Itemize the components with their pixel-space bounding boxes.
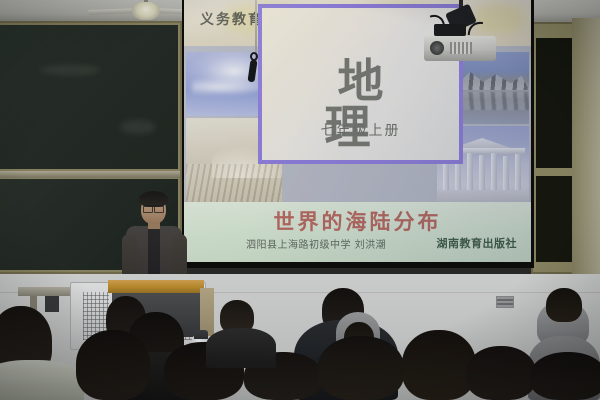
chalk-tray: [0, 171, 180, 178]
thermos-cap: [194, 330, 208, 339]
slide-body: 地 理 七年级上册: [184, 46, 531, 210]
publisher-name: 湖南教育出版社: [437, 235, 518, 251]
temple-column: [515, 154, 521, 192]
audience-glasses-icon: [300, 304, 316, 309]
audience-shoulders: [0, 360, 84, 400]
slide-bottom-banner: 世界的海陆分布 泗阳县上海路初级中学 刘洪潮 湖南教育出版社: [184, 202, 531, 262]
audience-shoulders: [206, 328, 276, 368]
fan-light-hub: [132, 2, 160, 20]
audience-head: [546, 288, 582, 322]
slide-subtitle: 七年级上册: [262, 120, 459, 140]
audience-head: [402, 330, 476, 400]
chalk-smudge: [120, 120, 156, 134]
temple-column: [491, 153, 497, 192]
audience-head: [466, 346, 536, 400]
temple-column: [467, 153, 473, 192]
temple-column: [479, 155, 485, 192]
classroom-photo: 义务教育教科书: [0, 0, 600, 400]
wall-vent-icon: [496, 296, 514, 308]
podium-side-panel: [200, 288, 214, 336]
lesson-author: 泗阳县上海路初级中学 刘洪潮: [246, 236, 386, 251]
lesson-title: 世界的海陆分布: [184, 206, 531, 236]
teacher-jacket-lapel: [148, 228, 160, 276]
audience-head: [318, 336, 404, 400]
chalkboard-upper-panel: [0, 25, 178, 169]
audience-head: [530, 352, 600, 400]
right-wall-strip: [572, 18, 600, 278]
podium-top: [108, 280, 204, 293]
temple-column: [503, 156, 509, 192]
chalk-smudge: [40, 65, 100, 75]
glasses-icon: [143, 205, 164, 210]
audience-head: [76, 330, 150, 400]
